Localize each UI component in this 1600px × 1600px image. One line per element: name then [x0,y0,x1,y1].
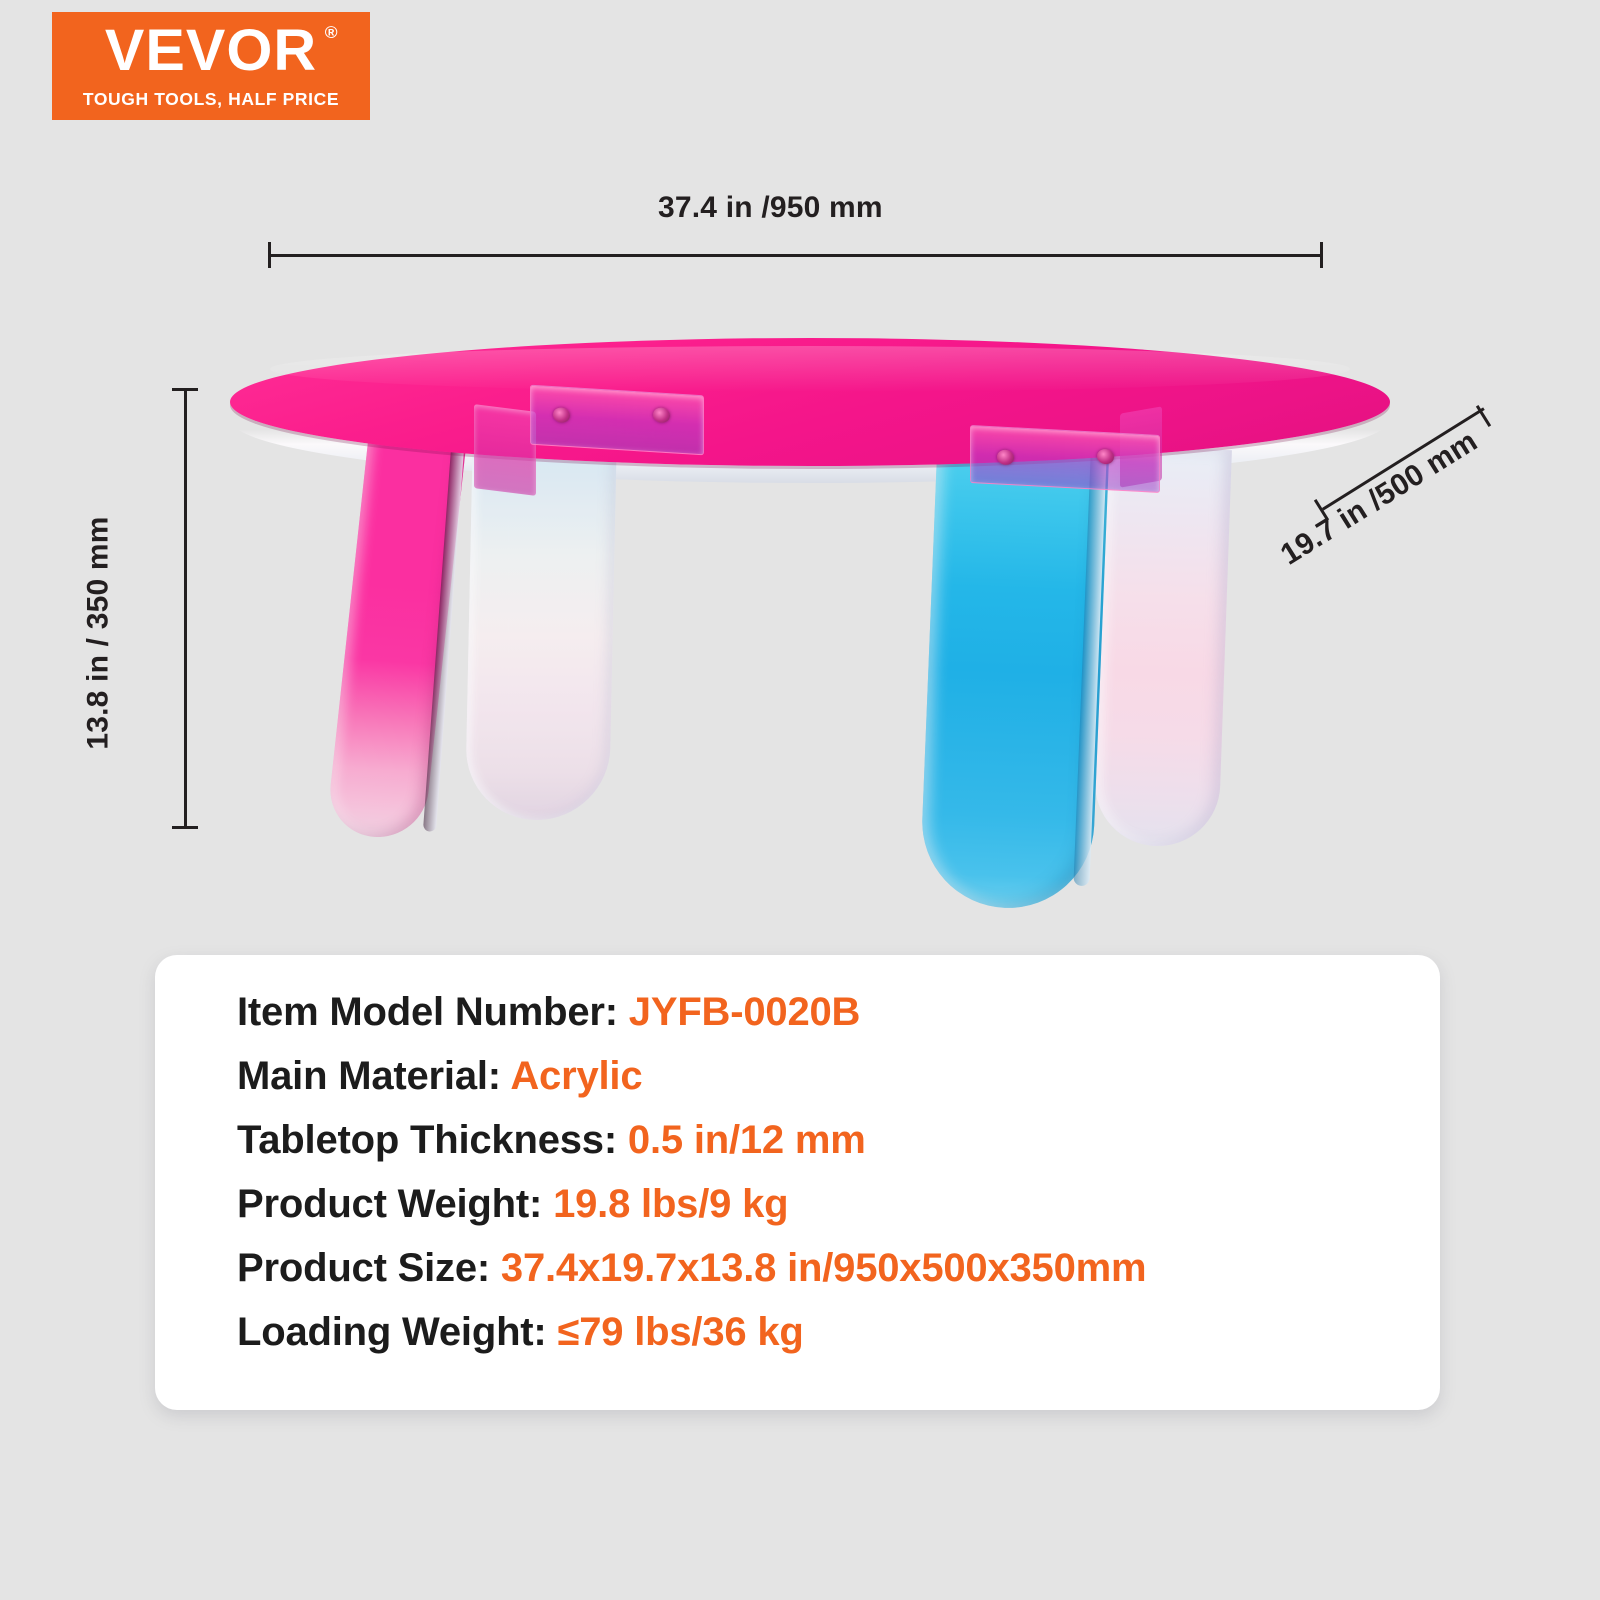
spec-row: Tabletop Thickness: 0.5 in/12 mm [237,1120,1420,1160]
spec-value: 19.8 lbs/9 kg [553,1182,788,1226]
bracket-left [530,385,704,456]
spec-label: Main Material: [237,1054,501,1098]
screw-icon [1097,449,1114,465]
screw-icon [553,407,570,423]
width-dimension-line [268,254,1322,257]
screw-icon [997,449,1014,465]
specifications-card: Item Model Number: JYFB-0020B Main Mater… [155,955,1440,1410]
width-dimension-cap-left [268,242,271,268]
tabletop-pink-surface [230,338,1390,466]
product-illustration [180,300,1440,940]
specifications-list: Item Model Number: JYFB-0020B Main Mater… [237,992,1420,1352]
brand-name: VEVOR ® [105,22,317,80]
width-dimension-cap-right [1320,242,1323,268]
spec-label: Loading Weight: [237,1310,547,1354]
spec-row: Main Material: Acrylic [237,1056,1420,1096]
spec-value: ≤79 lbs/36 kg [557,1310,803,1354]
spec-label: Product Size: [237,1246,490,1290]
spec-row: Product Size: 37.4x19.7x13.8 in/950x500x… [237,1248,1420,1288]
screw-icon [653,407,670,423]
height-dimension-label: 13.8 in / 350 mm [82,516,116,749]
bracket-right [970,425,1160,493]
spec-label: Product Weight: [237,1182,542,1226]
spec-value: 37.4x19.7x13.8 in/950x500x350mm [501,1246,1146,1290]
spec-label: Tabletop Thickness: [237,1118,617,1162]
width-dimension-label: 37.4 in /950 mm [658,191,883,225]
spec-value: 0.5 in/12 mm [628,1118,866,1162]
spec-value: Acrylic [510,1054,642,1098]
spec-row: Item Model Number: JYFB-0020B [237,992,1420,1032]
registered-trademark-icon: ® [325,24,338,41]
spec-row: Loading Weight: ≤79 lbs/36 kg [237,1312,1420,1352]
vevor-logo: VEVOR ® TOUGH TOOLS, HALF PRICE [52,12,370,120]
leg-right-rear-iridescent [1093,446,1232,848]
tabletop [230,338,1390,488]
spec-value: JYFB-0020B [629,990,860,1034]
spec-row: Product Weight: 19.8 lbs/9 kg [237,1184,1420,1224]
spec-label: Item Model Number: [237,990,618,1034]
brand-name-text: VEVOR [105,18,317,83]
brand-tagline: TOUGH TOOLS, HALF PRICE [83,89,339,110]
bracket-left-post [474,404,536,496]
